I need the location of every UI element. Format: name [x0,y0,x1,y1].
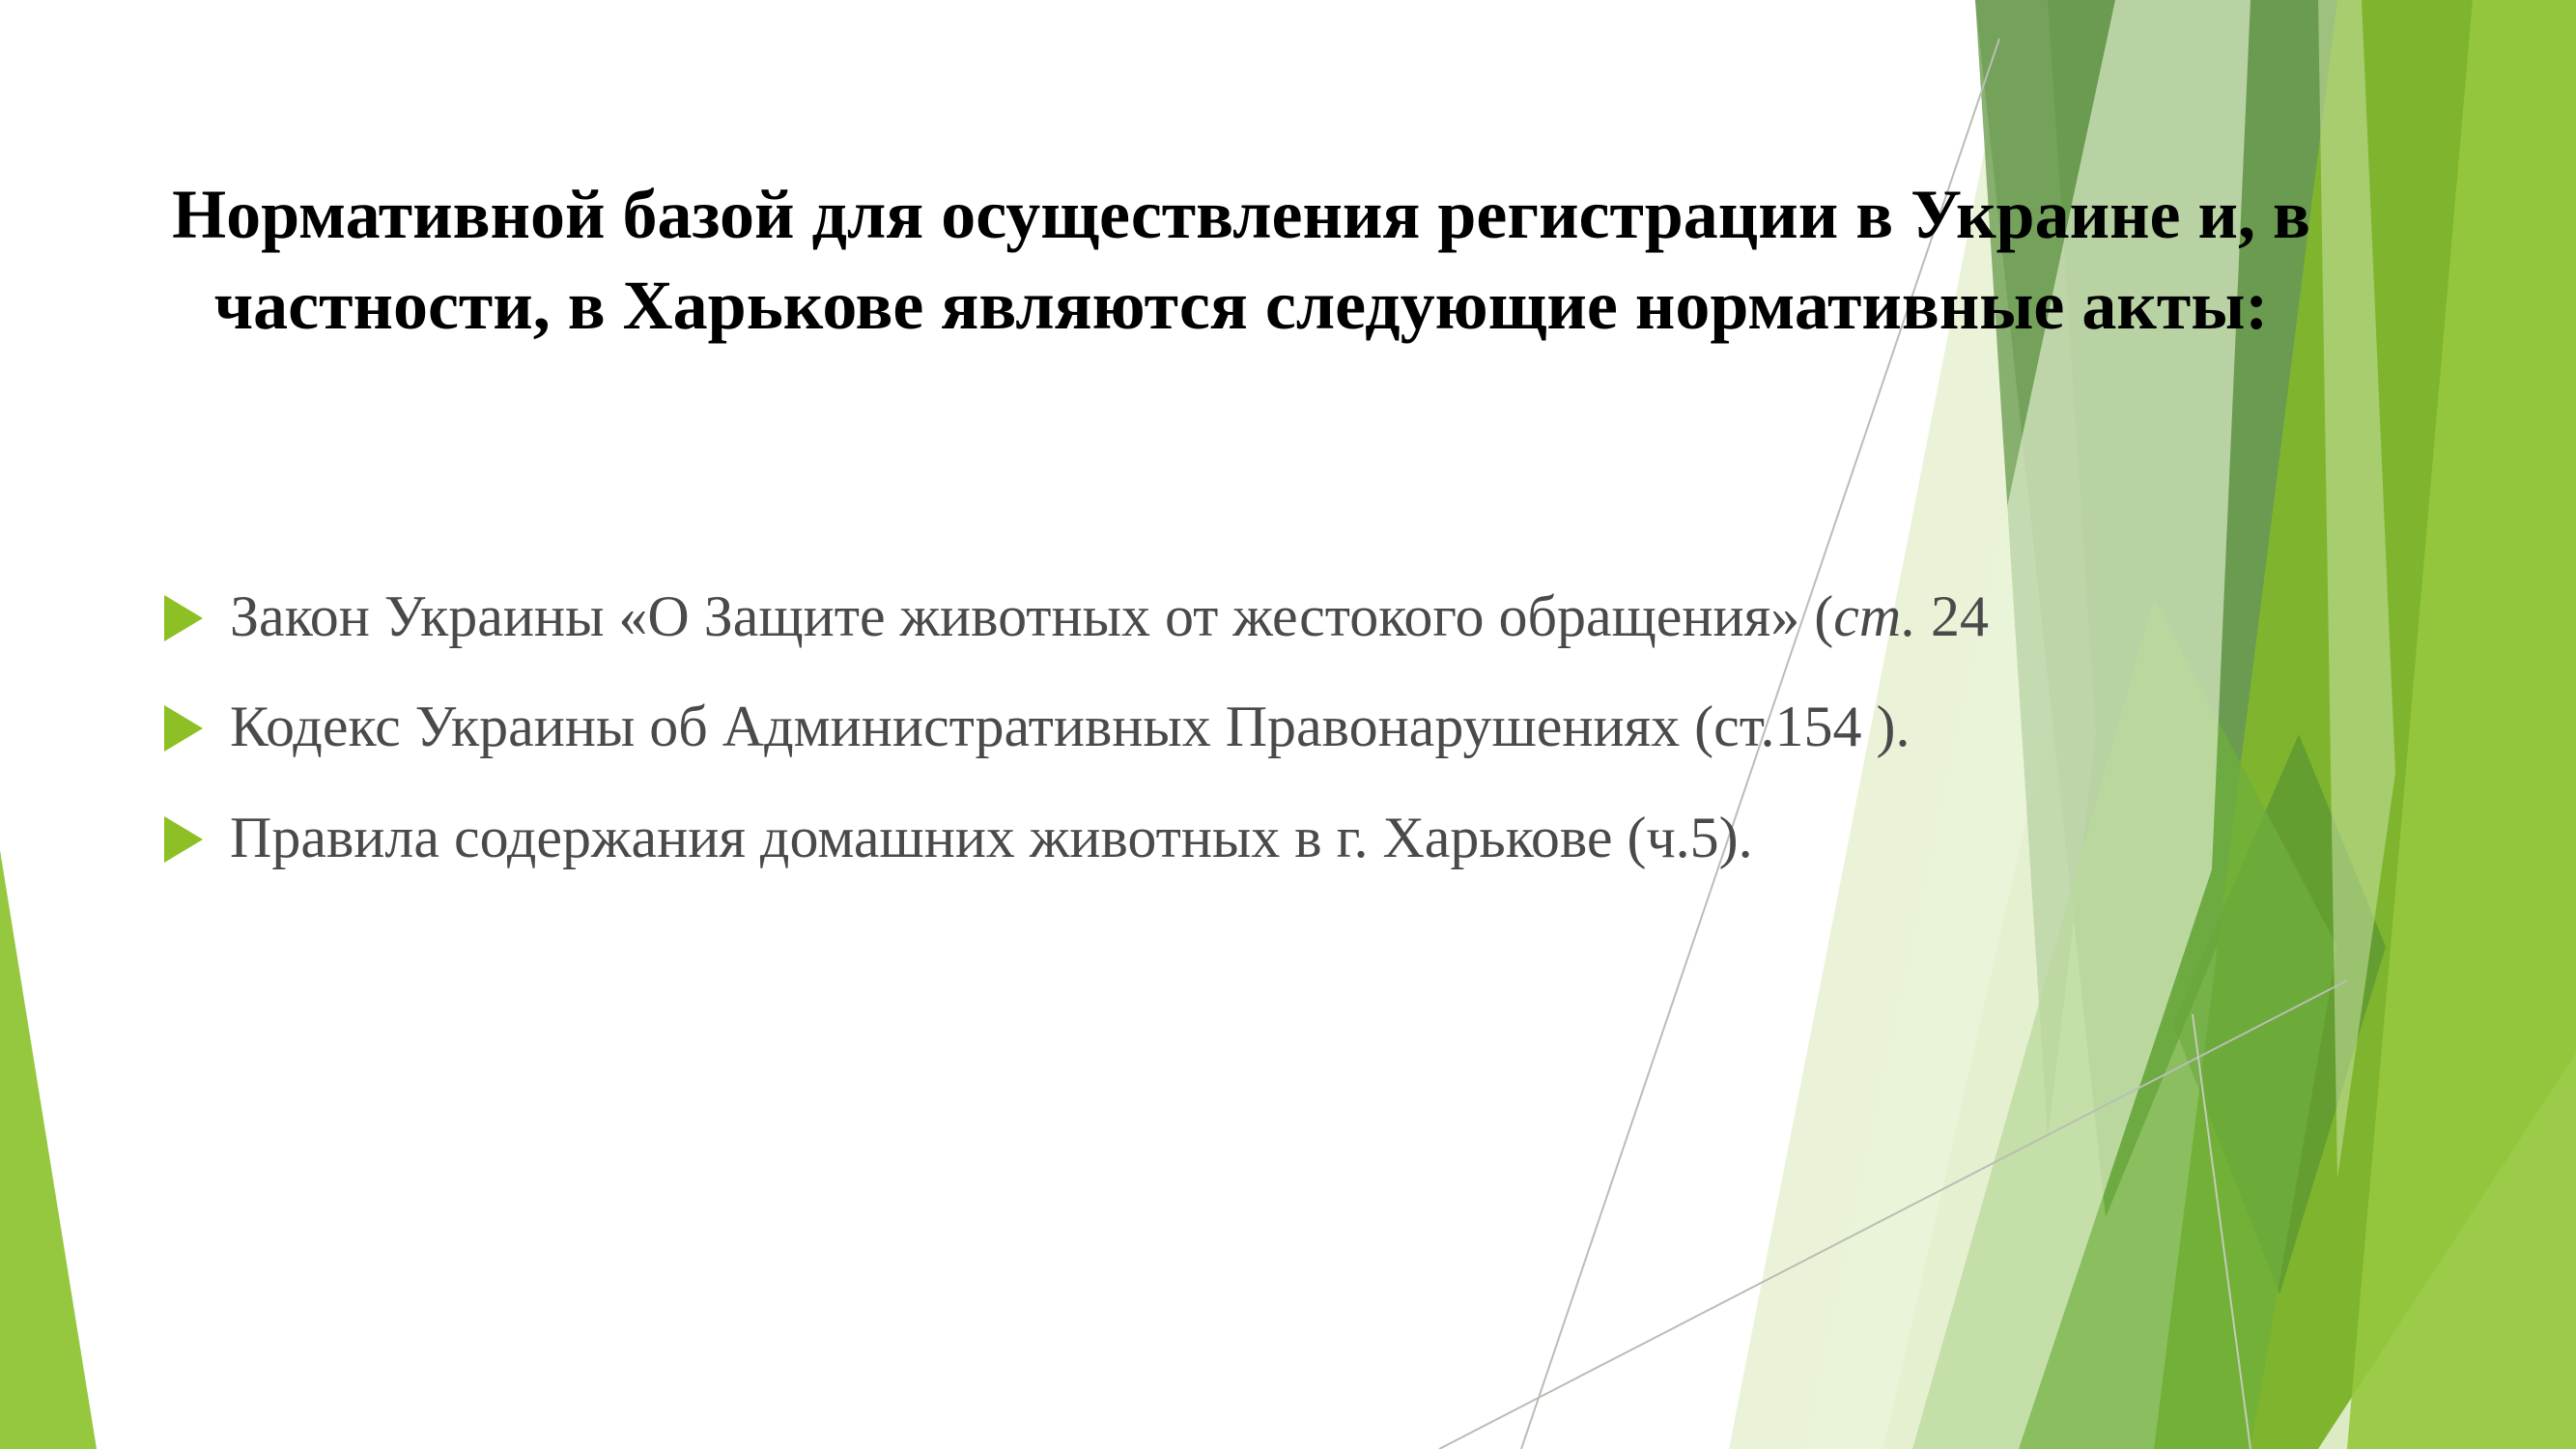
list-item-text: Закон Украины «О Защите животных от жест… [230,578,2413,655]
list-item: Кодекс Украины об Административных Право… [162,688,2413,765]
triangle-right-icon [164,595,203,641]
list-item-text-tail: 24 [1916,584,1989,648]
triangle-right-icon [164,705,203,752]
slide-title: Нормативной базой для осуществления реги… [145,170,2337,351]
list-item-text-part: Кодекс Украины об Административных Право… [230,695,1910,758]
presentation-slide: Нормативной базой для осуществления реги… [0,0,2576,1449]
list-item-text: Правила содержания домашних животных в г… [230,799,2413,876]
list-item-text-part: Правила содержания домашних животных в г… [230,806,1753,869]
list-item: Закон Украины «О Защите животных от жест… [162,578,2413,655]
slide-content: Нормативной базой для осуществления реги… [0,0,2576,1449]
list-item: Правила содержания домашних животных в г… [162,799,2413,876]
list-item-text: Кодекс Украины об Административных Право… [230,688,2413,765]
list-item-text-italic: ст. [1833,584,1916,648]
bullet-list: Закон Украины «О Защите животных от жест… [162,578,2413,876]
triangle-right-icon [164,816,203,863]
list-item-text-part: Закон Украины «О Защите животных от жест… [230,584,1833,648]
